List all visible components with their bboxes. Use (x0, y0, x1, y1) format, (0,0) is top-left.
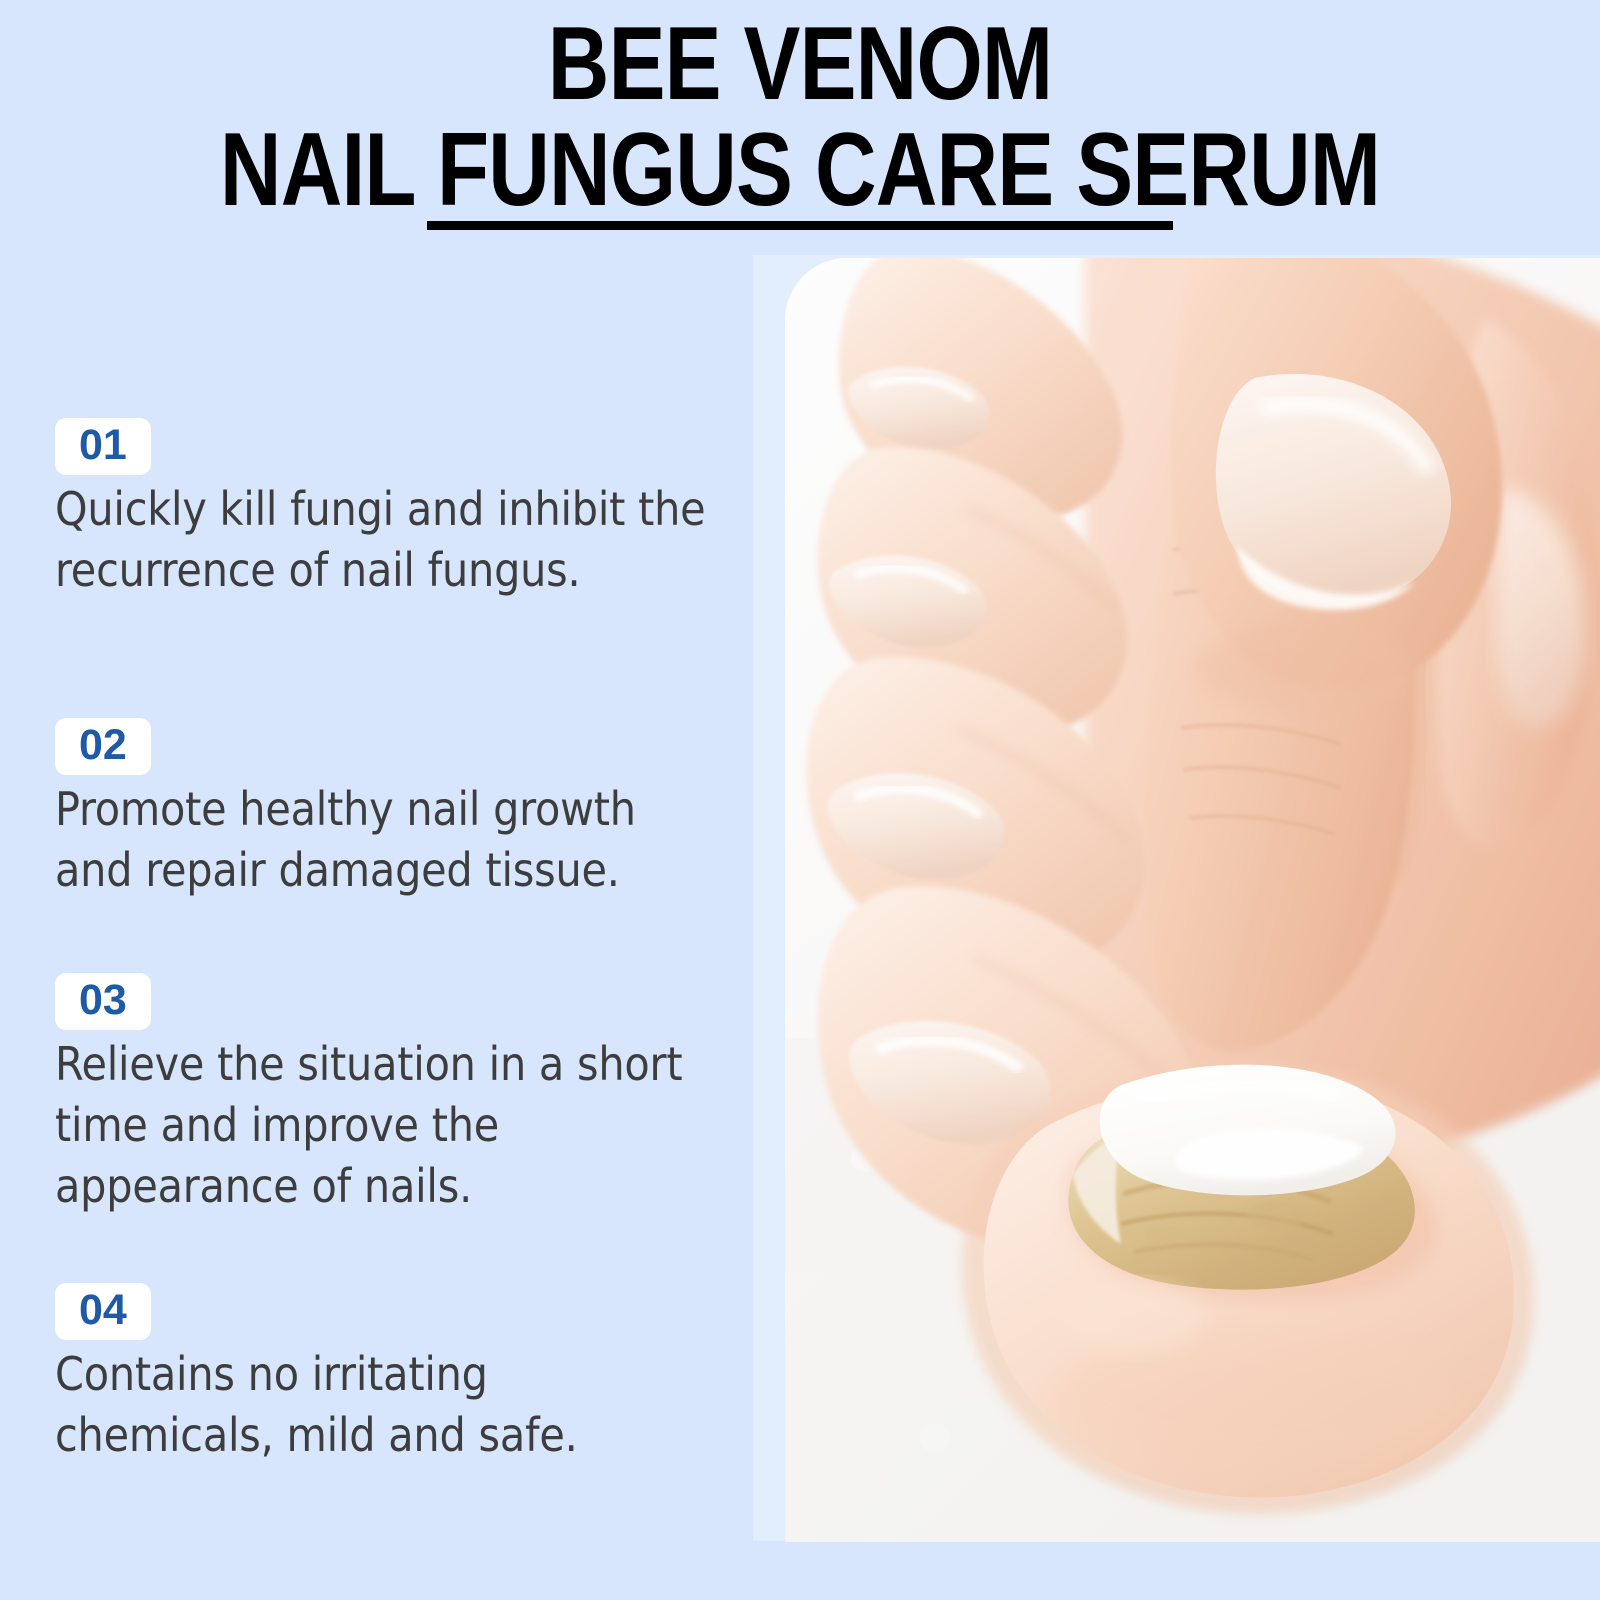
photo-vignette (785, 258, 1600, 1542)
feature-number-badge-03: 03 (55, 973, 151, 1030)
feature-number-badge-01: 01 (55, 418, 151, 475)
feature-text-02: Promote healthy nail growth and repair d… (55, 779, 715, 901)
foot-photo-illustration (785, 258, 1600, 1542)
feature-text-01: Quickly kill fungi and inhibit the recur… (55, 479, 715, 601)
feature-item-03: 03 Relieve the situation in a short time… (55, 973, 715, 1218)
feature-number-badge-04: 04 (55, 1283, 151, 1340)
feature-item-04: 04 Contains no irritating chemicals, mil… (55, 1283, 715, 1466)
feature-text-03: Relieve the situation in a short time an… (55, 1034, 715, 1218)
feature-item-02: 02 Promote healthy nail growth and repai… (55, 718, 715, 901)
foot-photo (785, 258, 1600, 1542)
feature-item-01: 01 Quickly kill fungi and inhibit the re… (55, 418, 715, 601)
feature-list: 01 Quickly kill fungi and inhibit the re… (0, 0, 740, 1600)
feature-text-04: Contains no irritating chemicals, mild a… (55, 1344, 715, 1466)
feature-number-badge-02: 02 (55, 718, 151, 775)
